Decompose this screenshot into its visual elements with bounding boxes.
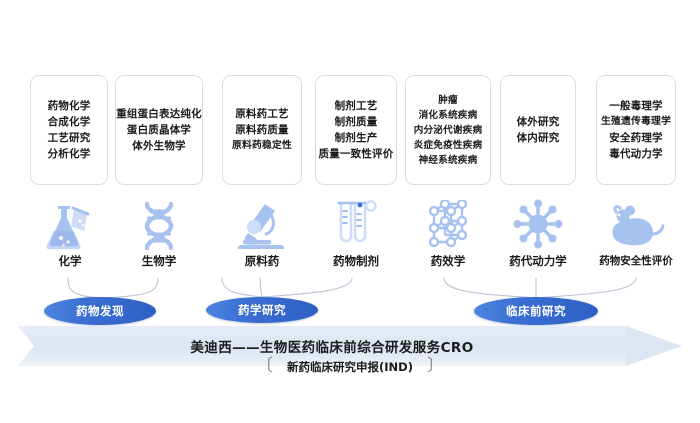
card-line: 肿瘤 bbox=[438, 93, 458, 108]
card-line: 体外研究 bbox=[517, 114, 560, 130]
virus-icon bbox=[512, 198, 564, 250]
card-line: 工艺研究 bbox=[48, 130, 91, 146]
mouse-icon bbox=[607, 198, 665, 250]
pillar-label: 药物制剂 bbox=[333, 253, 379, 269]
stage-pharmaceutics[interactable]: 药学研究 bbox=[206, 297, 318, 323]
card-medicinal-chemistry: 药物化学合成化学工艺研究分析化学 bbox=[30, 75, 108, 185]
microscope-icon bbox=[235, 198, 289, 250]
card-line: 生殖遗传毒理学 bbox=[601, 114, 671, 130]
pillar-label: 化学 bbox=[59, 253, 82, 269]
card-line: 原料药稳定性 bbox=[232, 138, 292, 154]
card-line: 原料药工艺 bbox=[235, 106, 289, 122]
pillar-formulation: 药物制剂 bbox=[315, 198, 397, 269]
stage-drug-discovery[interactable]: 药物发现 bbox=[44, 297, 156, 325]
card-disease-areas: 肿瘤消化系统疾病内分泌代谢疾病炎症免疫性疾病神经系统疾病 bbox=[405, 75, 491, 185]
card-api-development: 原料药工艺原料药质量原料药稳定性 bbox=[222, 75, 302, 185]
bracket-right-icon: 〕 bbox=[427, 358, 444, 375]
pillar-pharmacokinetics: 药代动力学 bbox=[495, 198, 581, 269]
card-line: 制剂质量 bbox=[335, 114, 378, 130]
pillar-chemistry: 化学 bbox=[32, 198, 108, 269]
stage-label: 临床前研究 bbox=[506, 303, 566, 319]
card-protein-science: 重组蛋白表达纯化蛋白质晶体学体外生物学 bbox=[115, 75, 203, 185]
stage-label: 药物发现 bbox=[76, 303, 124, 319]
ind-row: 〔 新药临床研究申报(IND) 〕 bbox=[0, 358, 700, 375]
pillar-pharmacodynamics: 药效学 bbox=[406, 198, 490, 269]
infographic-canvas: 药物化学合成化学工艺研究分析化学重组蛋白表达纯化蛋白质晶体学体外生物学原料药工艺… bbox=[0, 0, 700, 423]
test-tubes-icon bbox=[332, 198, 380, 250]
card-line: 重组蛋白表达纯化 bbox=[116, 106, 202, 122]
card-line: 毒代动力学 bbox=[609, 146, 663, 162]
card-line: 安全药理学 bbox=[609, 130, 663, 146]
pillar-label: 生物学 bbox=[142, 253, 177, 269]
molecule-grid-icon bbox=[423, 198, 473, 250]
card-dmpk-studies: 体外研究体内研究 bbox=[500, 75, 576, 185]
stage-label: 药学研究 bbox=[238, 302, 286, 318]
card-line: 质量一致性评价 bbox=[319, 146, 394, 162]
bracket-left-icon: 〔 bbox=[256, 358, 273, 375]
stage-preclinical[interactable]: 临床前研究 bbox=[474, 297, 598, 325]
card-line: 炎症免疫性疾病 bbox=[414, 138, 483, 153]
pillar-label: 药代动力学 bbox=[509, 253, 567, 269]
card-formulation-development: 制剂工艺制剂质量制剂生产质量一致性评价 bbox=[315, 75, 397, 185]
card-line: 内分泌代谢疾病 bbox=[414, 123, 483, 138]
card-toxicology: 一般毒理学生殖遗传毒理学安全药理学毒代动力学 bbox=[596, 75, 676, 185]
pillar-label: 原料药 bbox=[245, 253, 280, 269]
ind-label: 新药临床研究申报(IND) bbox=[287, 359, 413, 375]
card-line: 蛋白质晶体学 bbox=[127, 122, 191, 138]
card-line: 消化系统疾病 bbox=[419, 108, 478, 123]
card-line: 体外生物学 bbox=[132, 138, 186, 154]
card-line: 神经系统疾病 bbox=[419, 153, 478, 168]
pillar-api: 原料药 bbox=[223, 198, 301, 269]
card-line: 制剂工艺 bbox=[335, 98, 378, 114]
flask-icon bbox=[41, 198, 99, 250]
pillar-safety-evaluation: 药物安全性评价 bbox=[592, 198, 680, 268]
card-line: 制剂生产 bbox=[335, 130, 378, 146]
card-line: 一般毒理学 bbox=[609, 98, 663, 114]
card-line: 合成化学 bbox=[48, 114, 91, 130]
card-line: 原料药质量 bbox=[235, 122, 289, 138]
pillar-label: 药效学 bbox=[431, 253, 466, 269]
dna-icon bbox=[133, 198, 185, 250]
card-line: 分析化学 bbox=[48, 146, 91, 162]
card-line: 体内研究 bbox=[517, 130, 560, 146]
pillar-biology: 生物学 bbox=[116, 198, 202, 269]
card-line: 药物化学 bbox=[48, 98, 91, 114]
pillar-label: 药物安全性评价 bbox=[599, 253, 673, 268]
